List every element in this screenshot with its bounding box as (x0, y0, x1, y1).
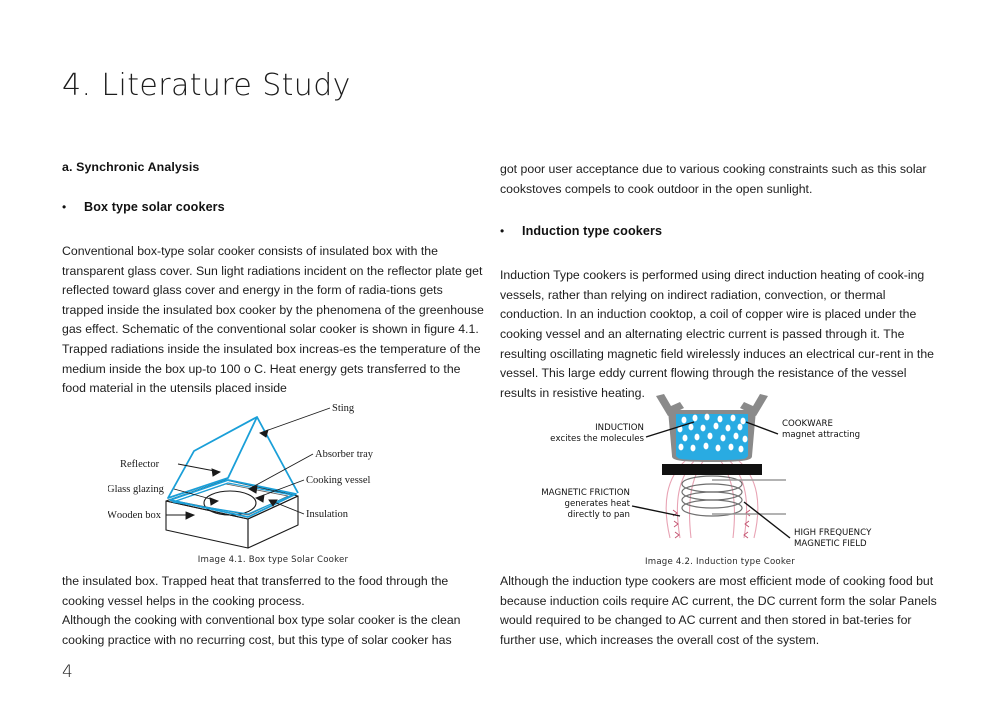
bullet-dot-icon: • (62, 201, 84, 213)
leader-cooking-vessel-arrow (256, 495, 264, 502)
figure-induction-type-cooker: INDUCTION excites the molecules COOKWARE… (528, 392, 938, 567)
leader-sting (260, 408, 330, 433)
label-glass-glazing: Glass glazing (108, 484, 165, 495)
induction-cooker-diagram: INDUCTION excites the molecules COOKWARE… (528, 392, 938, 552)
bullet-box-type-solar-cookers: • Box type solar cookers (62, 200, 486, 214)
label-wooden-box: Wooden box (108, 510, 162, 521)
paragraph-induction-efficiency: Although the induction type cookers are … (500, 572, 940, 650)
page-title: 4. Literature Study (62, 68, 351, 103)
label-sting: Sting (332, 403, 355, 414)
label-absorber-tray: Absorber tray (315, 449, 374, 460)
paragraph-clean-cooking: Although the cooking with conventional b… (62, 611, 486, 650)
paragraph-box-type-description: Conventional box-type solar cooker consi… (62, 242, 486, 399)
label-induction-sub: excites the molecules (550, 434, 644, 444)
section-heading-synchronic-analysis: a. Synchronic Analysis (62, 160, 486, 174)
label-cookware-sub: magnet attracting (782, 430, 860, 440)
right-column-lower: Although the induction type cookers are … (500, 572, 940, 650)
bullet-label: Box type solar cookers (84, 200, 225, 214)
glass-glazing-inner (173, 483, 292, 514)
cooktop-surface (662, 464, 762, 475)
left-column-lower: the insulated box. Trapped heat that tra… (62, 572, 486, 650)
label-cookware-title: COOKWARE (782, 419, 833, 429)
figure-caption-4-2: Image 4.2. Induction type Cooker (520, 557, 920, 567)
solar-cooker-diagram: Sting Absorber tray Cooking vessel Insul… (108, 388, 498, 550)
label-reflector: Reflector (120, 459, 160, 470)
label-cooking-vessel: Cooking vessel (306, 475, 371, 486)
paragraph-induction-description: Induction Type cookers is performed usin… (500, 266, 940, 403)
leader-absorber-tray (249, 454, 313, 489)
leader-wooden-box-arrow (186, 512, 194, 519)
leader-glass-glazing-arrow (210, 498, 218, 505)
left-column: a. Synchronic Analysis • Box type solar … (62, 160, 486, 399)
label-induction-title: INDUCTION (595, 423, 644, 433)
page-number: 4 (62, 662, 73, 682)
label-insulation: Insulation (306, 509, 349, 520)
bullet-dot-icon: • (500, 225, 522, 237)
figure-box-type-solar-cooker: Sting Absorber tray Cooking vessel Insul… (108, 388, 498, 565)
label-high-frequency-line2: MAGNETIC FIELD (794, 539, 867, 549)
bullet-label: Induction type cookers (522, 224, 662, 238)
figure-caption-4-1: Image 4.1. Box type Solar Cooker (108, 555, 438, 565)
label-magnetic-friction-sub2: directly to pan (568, 510, 631, 520)
paragraph-user-acceptance: got poor user acceptance due to various … (500, 160, 940, 199)
label-high-frequency-line1: HIGH FREQUENCY (794, 528, 872, 538)
leader-reflector-arrow (212, 469, 220, 476)
bullet-induction-type-cookers: • Induction type cookers (500, 224, 940, 238)
right-column: got poor user acceptance due to various … (500, 160, 940, 403)
label-magnetic-friction-title: MAGNETIC FRICTION (541, 488, 630, 498)
document-page: 4. Literature Study a. Synchronic Analys… (0, 0, 1000, 707)
paragraph-insulated-box: the insulated box. Trapped heat that tra… (62, 572, 486, 611)
label-magnetic-friction-sub1: generates heat (564, 499, 630, 509)
